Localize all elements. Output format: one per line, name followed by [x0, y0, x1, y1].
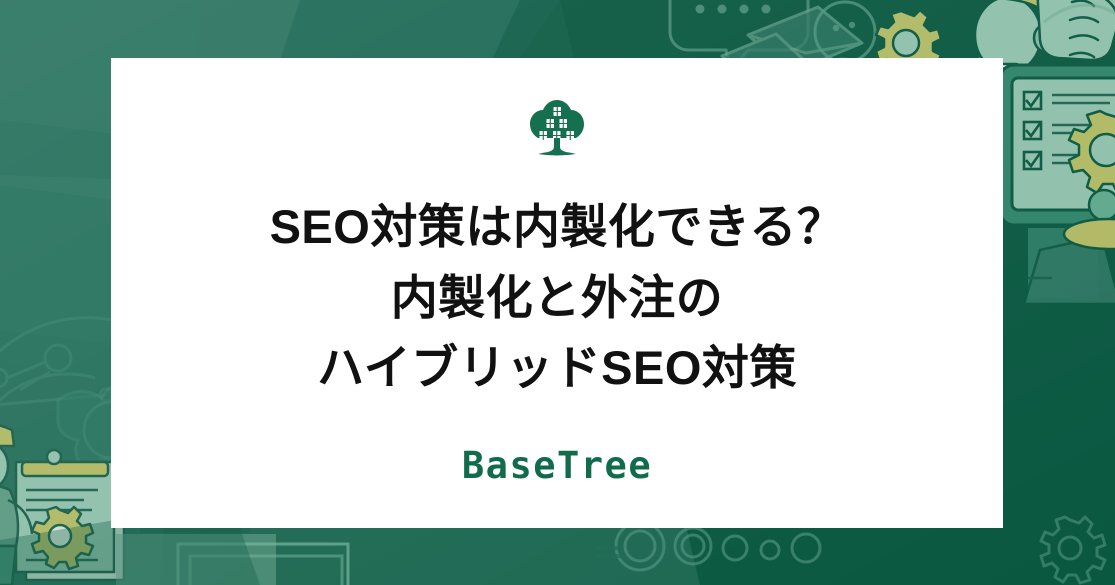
monitor-checklist-icon [1000, 65, 1115, 304]
page-title: SEO対策は内製化できる？ 内製化と外注の ハイブリッドSEO対策 [270, 192, 845, 404]
thumbnail-canvas: SEO対策は内製化できる？ 内製化と外注の ハイブリッドSEO対策 BaseTr… [0, 0, 1115, 585]
curve-line-decor [1044, 5, 1115, 22]
hand-icon [1038, 0, 1115, 60]
plant-base-icon [1064, 190, 1115, 249]
checklist-lines [1052, 95, 1115, 163]
headline-line-1: SEO対策は内製化できる？ [270, 192, 845, 263]
content-card: SEO対策は内製化できる？ 内製化と外注の ハイブリッドSEO対策 BaseTr… [111, 58, 1003, 528]
gear-icon [1069, 110, 1115, 194]
brand-name: BaseTree [462, 444, 652, 487]
tree-logo-svg [525, 98, 589, 160]
base-tree-logo-icon [525, 98, 589, 160]
speech-bubble-dots-icon [696, 5, 771, 14]
connector-line-decor [596, 548, 626, 556]
gear-icon [1041, 517, 1105, 583]
headline-line-2: 内製化と外注の [270, 263, 845, 334]
gear-icon [32, 507, 93, 569]
circle-face-icon [815, 2, 875, 62]
document-frame-icon [116, 528, 348, 585]
circle-ring-icon [616, 522, 820, 570]
headline-line-3: ハイブリッドSEO対策 [270, 333, 845, 404]
person-with-clipboard-icon [0, 424, 124, 585]
checkbox-icon [1024, 92, 1041, 169]
